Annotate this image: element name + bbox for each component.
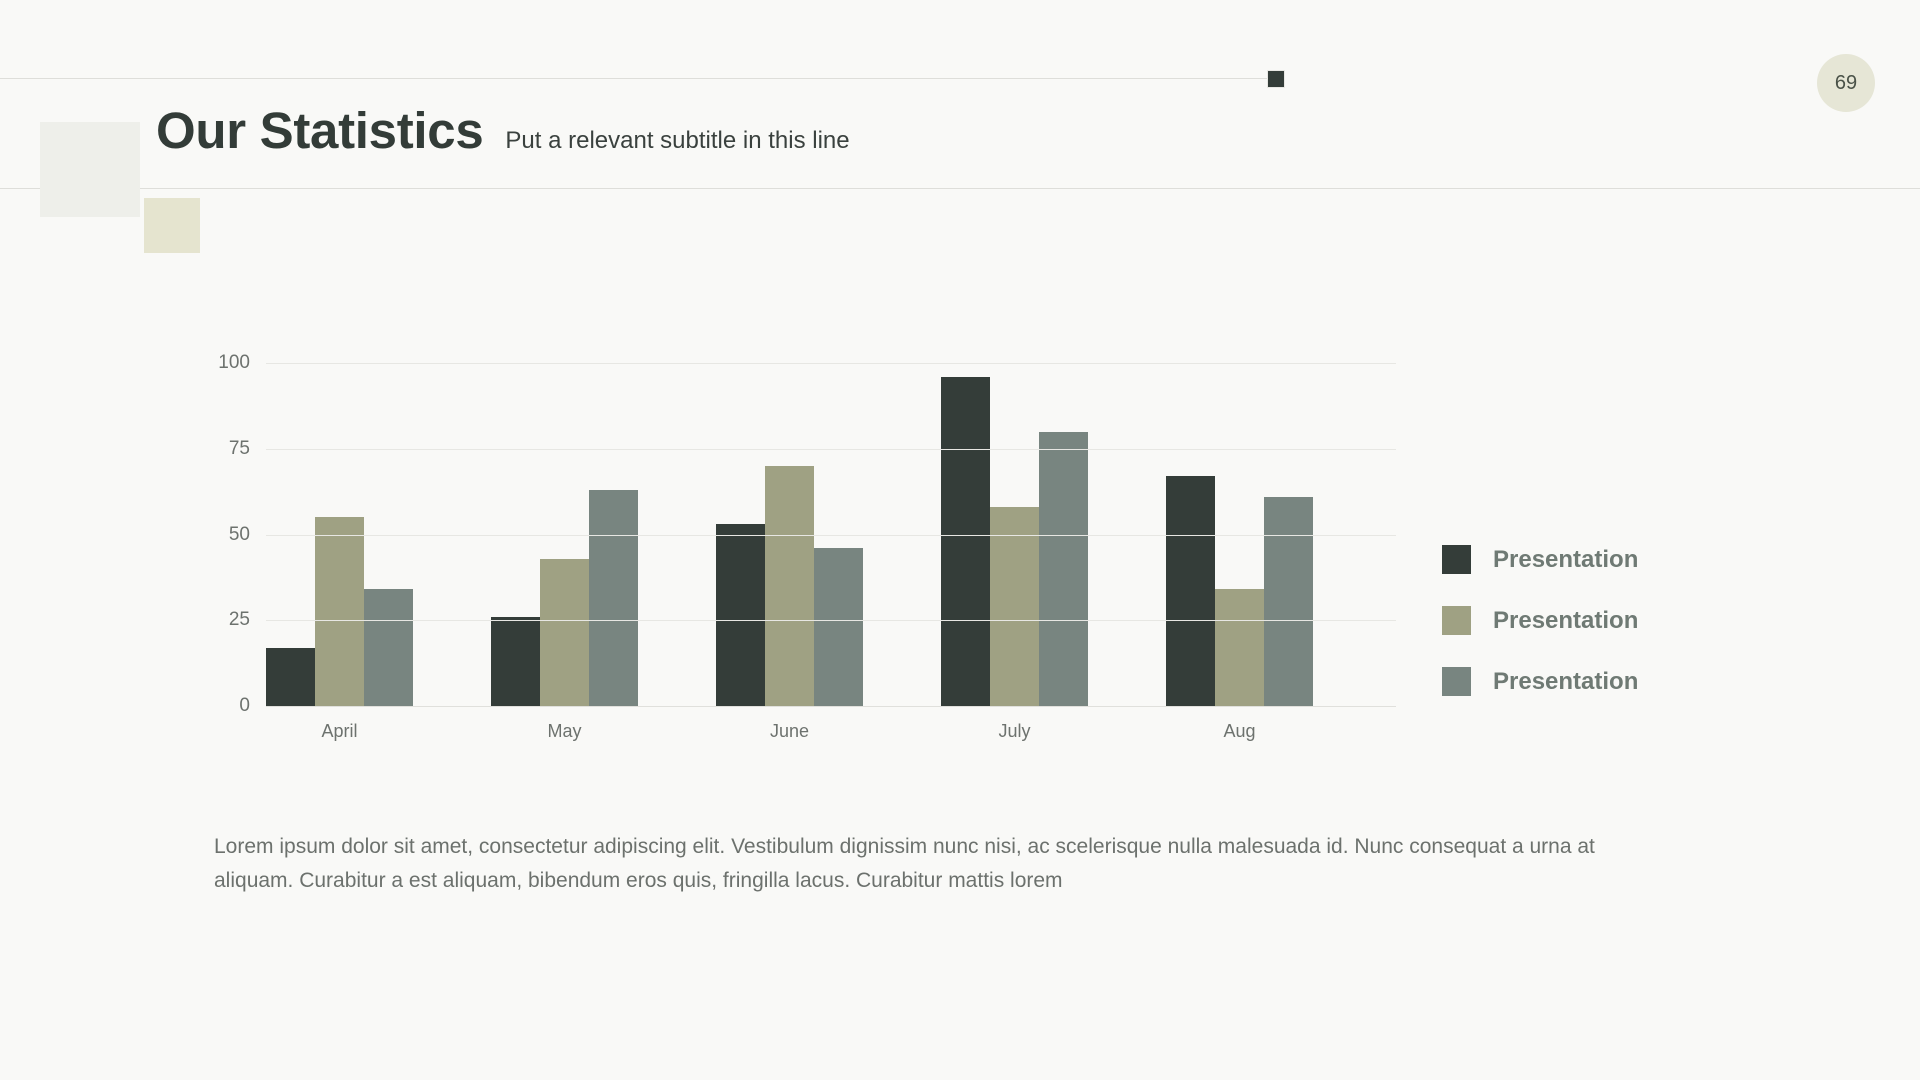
chart-gridline (266, 535, 1396, 536)
chart-legend: PresentationPresentationPresentation (1442, 545, 1638, 696)
chart-y-tick-label: 75 (180, 438, 250, 460)
chart-bar (266, 648, 315, 706)
chart-bar (589, 490, 638, 706)
body-paragraph: Lorem ipsum dolor sit amet, consectetur … (214, 830, 1664, 898)
chart-gridline (266, 363, 1396, 364)
chart-x-tick-label: July (998, 721, 1030, 742)
legend-item[interactable]: Presentation (1442, 667, 1638, 696)
chart-plot-area: 0255075100AprilMayJuneJulyAug (266, 363, 1396, 706)
chart-bar (364, 589, 413, 706)
chart-gridline (266, 449, 1396, 450)
chart-x-tick-label: Aug (1223, 721, 1255, 742)
chart-gridline (266, 706, 1396, 707)
chart-bar (990, 507, 1039, 706)
legend-swatch-icon (1442, 545, 1471, 574)
chart-bar (765, 466, 814, 706)
chart-bar (1166, 476, 1215, 706)
chart-bar (315, 517, 364, 706)
chart-y-tick-label: 50 (180, 524, 250, 546)
chart-y-tick-label: 0 (180, 695, 250, 717)
legend-item[interactable]: Presentation (1442, 606, 1638, 635)
legend-swatch-icon (1442, 606, 1471, 635)
chart-bar (491, 617, 540, 706)
chart-x-tick-label: May (547, 721, 581, 742)
chart-bar (1039, 432, 1088, 706)
statistics-bar-chart: 0255075100AprilMayJuneJulyAug (0, 0, 1920, 1080)
legend-swatch-icon (1442, 667, 1471, 696)
chart-y-tick-label: 25 (180, 609, 250, 631)
chart-bar (716, 524, 765, 706)
chart-x-tick-label: June (770, 721, 809, 742)
legend-item-label: Presentation (1493, 546, 1638, 574)
chart-bar (1215, 589, 1264, 706)
chart-bar (941, 377, 990, 706)
legend-item-label: Presentation (1493, 668, 1638, 696)
chart-y-tick-label: 100 (180, 352, 250, 374)
chart-bar (540, 559, 589, 706)
legend-item-label: Presentation (1493, 607, 1638, 635)
chart-gridline (266, 620, 1396, 621)
chart-x-tick-label: April (321, 721, 357, 742)
legend-item[interactable]: Presentation (1442, 545, 1638, 574)
chart-bar (814, 548, 863, 706)
chart-bar (1264, 497, 1313, 706)
